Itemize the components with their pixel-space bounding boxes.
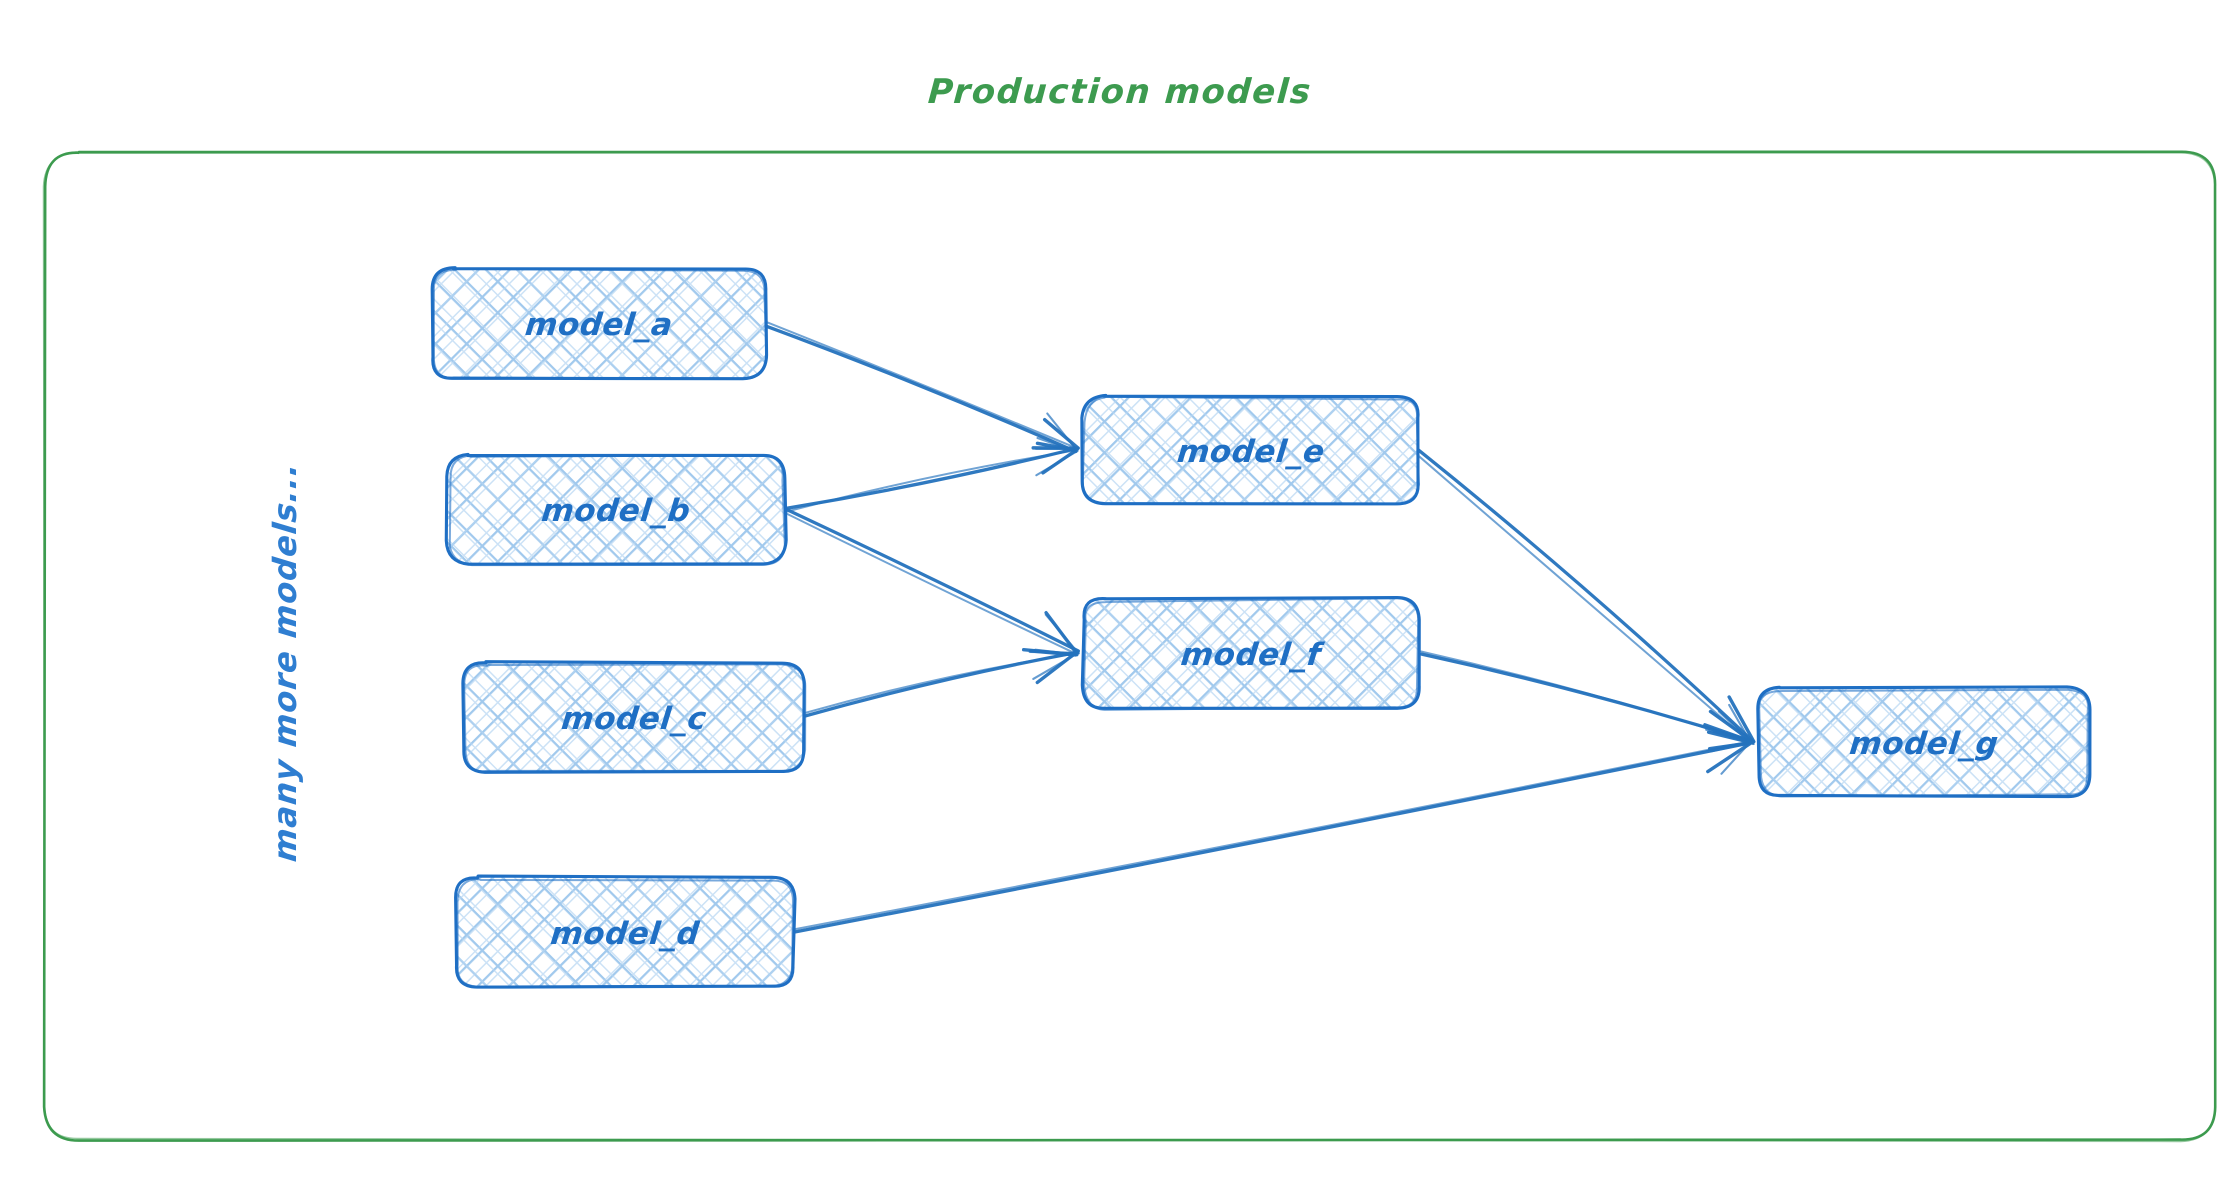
edge-stroke	[1416, 454, 1750, 743]
node-fill-secondary	[1083, 598, 1420, 709]
edge-stroke	[804, 653, 1077, 717]
edge-stroke	[766, 322, 1076, 448]
node-fill-secondary	[447, 455, 785, 563]
edge-stroke	[793, 741, 1752, 930]
node-model_a[interactable]	[432, 268, 767, 379]
node-fill-secondary	[456, 877, 795, 987]
node-model_e[interactable]	[1082, 395, 1419, 504]
many-more-models-annotation: many more models...	[266, 460, 304, 863]
node-fill-secondary	[432, 268, 767, 378]
node-fill-secondary	[464, 662, 804, 772]
edge-stroke	[1422, 654, 1751, 741]
node-model_b[interactable]	[446, 454, 786, 565]
node-model_d[interactable]	[456, 876, 795, 987]
node-layer	[432, 268, 2091, 988]
node-fill-secondary	[1758, 688, 2091, 796]
diagram-graphics	[0, 0, 2240, 1188]
diagram-canvas: Production models many more models... mo…	[0, 0, 2240, 1188]
node-fill-secondary	[1083, 396, 1419, 504]
node-model_c[interactable]	[463, 662, 805, 773]
edge-stroke	[1418, 450, 1753, 742]
edge-stroke	[781, 511, 1076, 654]
node-model_f[interactable]	[1082, 598, 1419, 710]
node-model_g[interactable]	[1758, 687, 2091, 797]
edge-stroke	[782, 507, 1078, 651]
edge-stroke	[763, 325, 1075, 451]
